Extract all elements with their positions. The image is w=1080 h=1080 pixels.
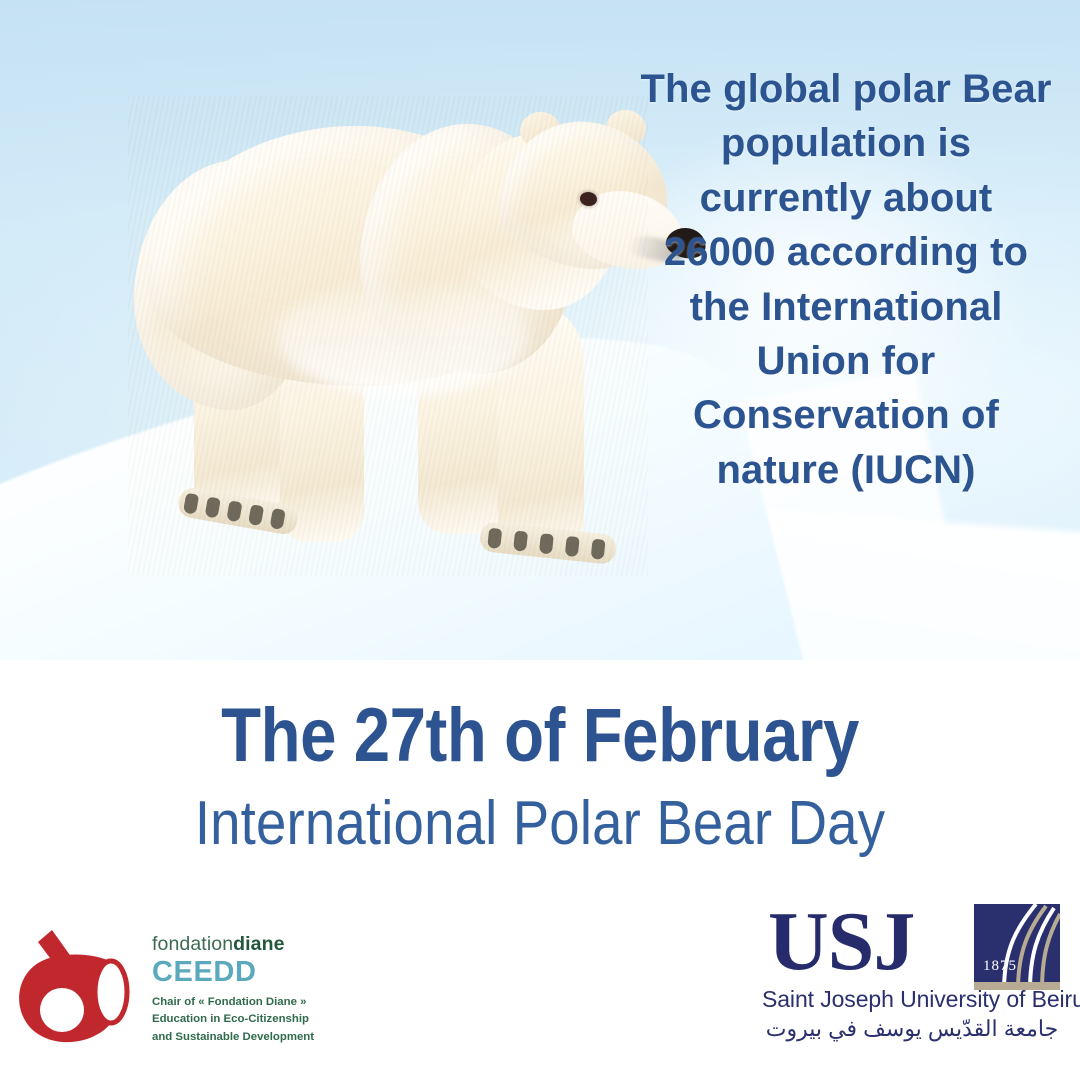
ceedd-tagline: Chair of « Fondation Diane » Education i… <box>152 994 344 1046</box>
poster: The global polar Bear population is curr… <box>0 0 1080 1080</box>
usj-wordmark: USJ <box>768 902 914 982</box>
page-subtitle: International Polar Bear Day <box>65 788 1015 859</box>
usj-emblem-icon: 1875 <box>974 904 1060 990</box>
logo-ceedd: fondationdiane CEEDD Chair of « Fondatio… <box>14 908 344 1068</box>
usj-name-en: Saint Joseph University of Beirut <box>762 986 1062 1013</box>
ceedd-acronym: CEEDD <box>152 956 344 988</box>
ceedd-wordmark: fondationdiane <box>152 934 344 955</box>
usj-name-ar: جامعة القدّيس يوسف في بيروت <box>762 1016 1062 1042</box>
bear-paw-front <box>479 521 617 565</box>
ceedd-text-block: fondationdiane CEEDD Chair of « Fondatio… <box>152 930 344 1046</box>
ceedd-wordmark-bold: diane <box>233 933 284 955</box>
bear-belly-highlight <box>278 276 528 396</box>
lower-band: The 27th of February International Polar… <box>0 660 1080 1080</box>
polar-bear-illustration <box>128 96 648 576</box>
usj-founded-year: 1875 <box>983 958 1017 975</box>
logo-usj: USJ 1875 Saint Joseph University of Beir… <box>762 896 1062 1064</box>
quote-text: The global polar Bear population is curr… <box>640 62 1052 497</box>
ceedd-tagline-line1: Chair of « Fondation Diane » <box>152 994 344 1011</box>
ceedd-tagline-line2: Education in Eco-Citizenship <box>152 1011 344 1028</box>
ceedd-tagline-line3: and Sustainable Development <box>152 1029 344 1046</box>
hero-photo: The global polar Bear population is curr… <box>0 0 1080 660</box>
fondation-diane-mark-icon <box>14 918 142 1058</box>
ceedd-wordmark-light: fondation <box>152 933 233 955</box>
page-title: The 27th of February <box>76 692 1005 779</box>
